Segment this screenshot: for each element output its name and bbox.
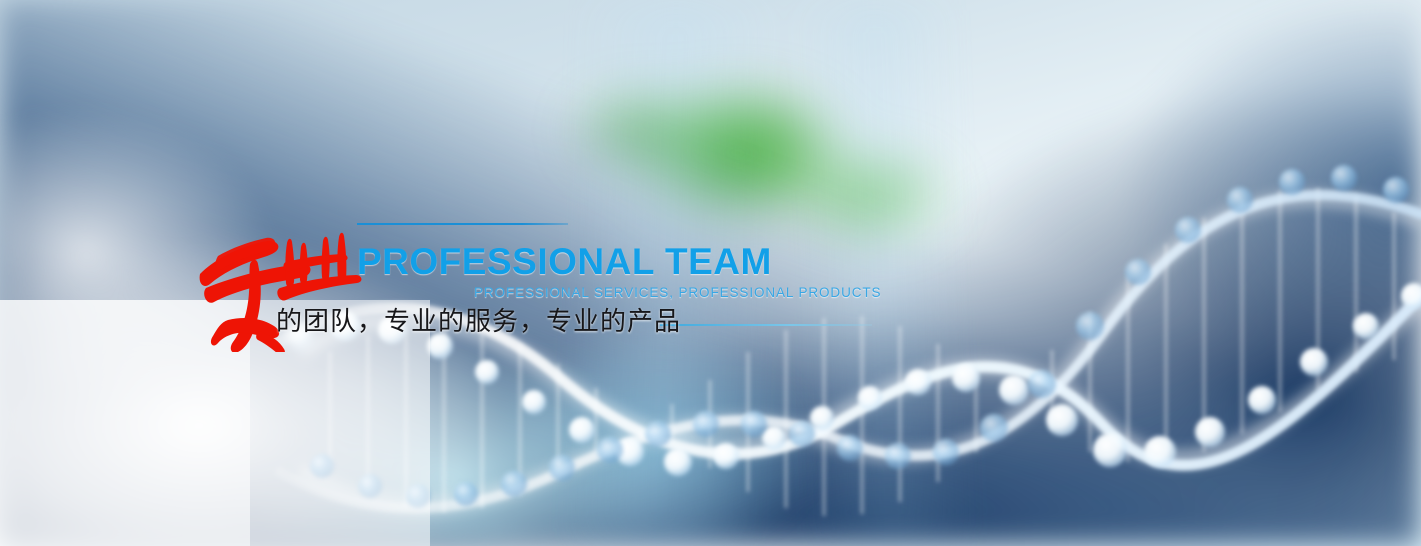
divider-bottom (660, 324, 872, 326)
professional-team-banner: PROFESSIONAL TEAM PROFESSIONAL SERVICES,… (0, 0, 1421, 546)
banner-headline: PROFESSIONAL TEAM (357, 243, 772, 280)
banner-subheadline: PROFESSIONAL SERVICES, PROFESSIONAL PROD… (474, 286, 881, 300)
divider-top (357, 223, 568, 225)
banner-tagline-cn: 的团队，专业的服务，专业的产品 (276, 306, 681, 340)
